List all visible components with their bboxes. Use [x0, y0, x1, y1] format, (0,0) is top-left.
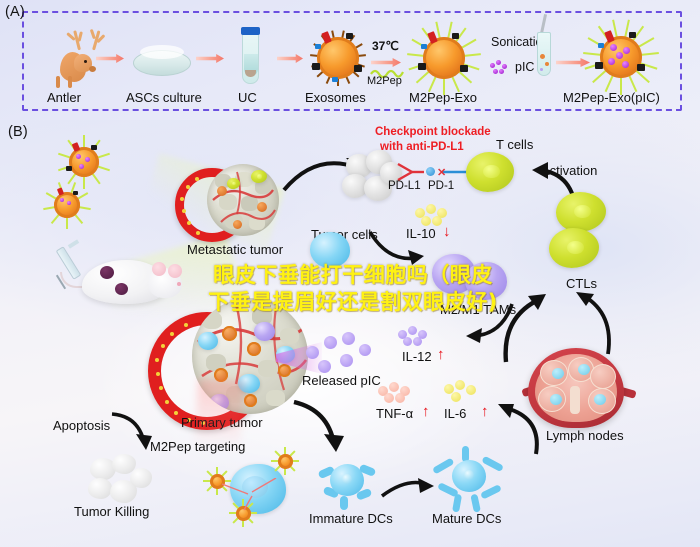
sonication-tube-icon — [530, 24, 560, 82]
panel-a-step-label-m2pep-exo: M2Pep-Exo — [409, 91, 477, 105]
surface-marker-blue-2 — [332, 77, 338, 82]
panel-a-step-label-uc: UC — [238, 91, 257, 105]
tumor-killing-label: Tumor Killing — [74, 505, 149, 519]
lymph-node-cell-4 — [594, 394, 606, 405]
pd1-label: PD-1 — [428, 180, 454, 192]
checkpoint-blockade-line2: with anti-PD-L1 — [380, 141, 464, 153]
arrow-to-immature-dcs — [290, 400, 352, 458]
cytokine-tnfa-label: TNF-α — [376, 407, 413, 421]
surface-marker-black-2 — [418, 63, 426, 70]
cytokine-tnfa-arrow: ↑ — [422, 404, 430, 420]
lymph-node-cell-2 — [578, 364, 590, 375]
tumor-spot-2 — [115, 283, 128, 295]
surface-marker-blue — [421, 44, 427, 49]
apoptosis-label: Apoptosis — [53, 419, 110, 433]
cytokine-il6-label: IL-6 — [444, 407, 466, 421]
pd-ligand-ball-icon — [426, 167, 435, 176]
m2pep-label: M2Pep — [367, 76, 402, 88]
m2-macrophage-blue-icon — [310, 232, 350, 268]
t-cells-label: T cells — [496, 138, 533, 152]
checkpoint-blockade-line1: Checkpoint blockade — [375, 126, 491, 138]
mature-dcs-label: Mature DCs — [432, 512, 501, 526]
surface-marker-black-3 — [460, 65, 468, 72]
cytokine-il6-arrow: ↑ — [481, 404, 489, 420]
surface-marker-black-2 — [312, 63, 320, 70]
il12-molecule-cluster — [398, 326, 432, 348]
released-pic-cluster — [304, 332, 378, 372]
cytokine-il12-label: IL-12 — [402, 350, 432, 364]
exosome-icon — [310, 30, 366, 86]
exosome-pic-icon — [590, 26, 652, 88]
panel-a: (A) Antler ASCs culture UC — [0, 0, 700, 120]
surface-marker-black-2 — [595, 62, 603, 69]
surface-marker-black-1 — [452, 33, 459, 39]
lymph-node-cell-1 — [552, 368, 564, 379]
metastatic-tumor-label: Metastatic tumor — [187, 243, 283, 257]
activation-label: Activation — [541, 164, 597, 178]
petri-dish-icon — [133, 40, 193, 80]
immature-dc-icon — [316, 452, 378, 510]
scientific-figure: (A) Antler ASCs culture UC — [0, 0, 700, 547]
cytokine-il12-arrow: ↑ — [437, 347, 445, 363]
panel-a-step-label-m2pep-exo-pic: M2Pep-Exo(pIC) — [563, 91, 660, 105]
arrow-to-tams — [368, 228, 430, 268]
il6-molecule-cluster — [444, 380, 478, 402]
metastatic-tumor-icon — [175, 158, 285, 254]
blockade-x-icon: ✕ — [437, 166, 446, 179]
surface-marker-blue — [598, 43, 604, 48]
m2pep-targeting-icon — [196, 452, 316, 522]
lymph-node-cell-3 — [550, 394, 562, 405]
panel-a-letter: (A) — [5, 4, 25, 20]
temperature-label: 37℃ — [372, 40, 399, 53]
centrifuge-tube-icon — [232, 28, 272, 88]
panel-a-step-label-exosomes: Exosomes — [305, 91, 366, 105]
panel-b-letter: (B) — [8, 124, 28, 140]
surface-marker-black-3 — [354, 65, 362, 72]
panel-a-step-label-ascs: ASCs culture — [126, 91, 202, 105]
pic-cluster-icon — [490, 60, 512, 76]
lymph-nodes-label: Lymph nodes — [546, 429, 624, 443]
exosome-particle-1 — [62, 140, 106, 184]
tnfa-molecule-cluster — [378, 382, 412, 404]
surface-marker-black-3 — [637, 64, 645, 71]
surface-marker-black-1 — [346, 33, 353, 39]
cytokine-il10-arrow: ↓ — [443, 224, 451, 240]
immature-dcs-label: Immature DCs — [309, 512, 393, 526]
exosome-particle-2 — [48, 186, 86, 224]
panel-a-step-label-antler: Antler — [47, 91, 81, 105]
tumor-spot-1 — [100, 266, 114, 279]
surface-marker-blue-1 — [315, 44, 321, 49]
released-pic-label: Released pIC — [302, 374, 381, 388]
mature-dc-icon — [434, 448, 504, 512]
killed-tumor-cell-icon — [86, 452, 158, 512]
surface-marker-black-1 — [629, 32, 636, 38]
exosome-peptide-icon — [414, 28, 474, 88]
arrow-immature-to-mature — [380, 474, 440, 508]
pdl1-label: PD-L1 — [388, 180, 421, 192]
